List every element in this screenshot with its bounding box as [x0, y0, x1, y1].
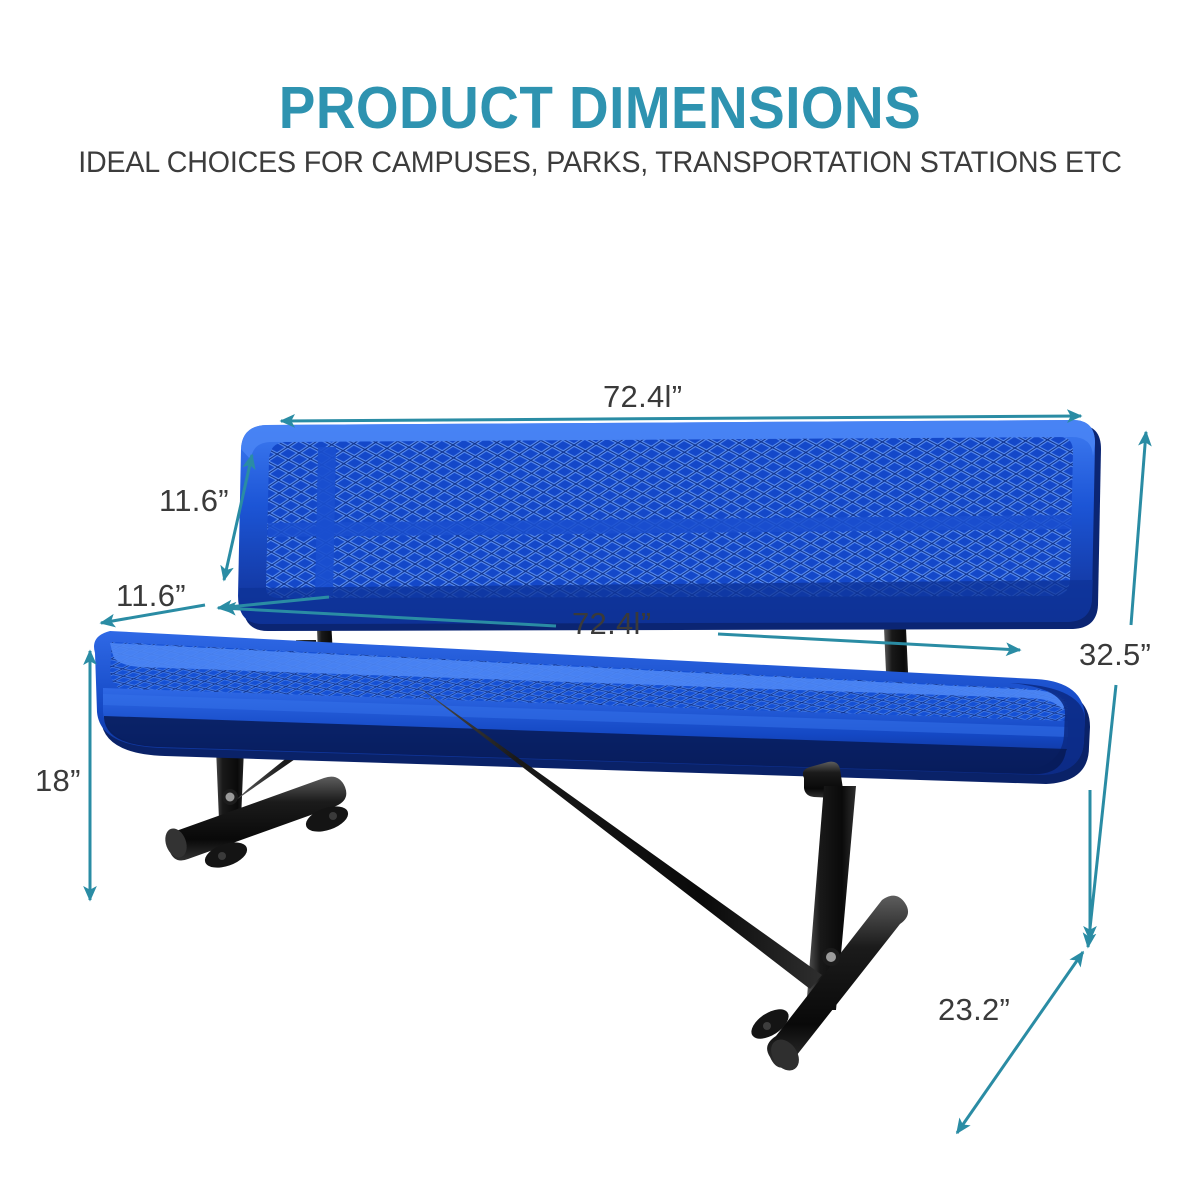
dim-label-overall-depth: 23.2” — [938, 992, 1010, 1028]
dim-label-backrest-height: 11.6” — [159, 483, 229, 519]
dim-line-overall-height-lower — [1088, 685, 1116, 947]
bench-graphic — [94, 420, 1101, 1076]
backrest-panel — [238, 420, 1101, 631]
dim-label-backrest-width: 72.4l” — [603, 379, 682, 415]
dim-line-overall-height-upper — [1131, 432, 1146, 625]
dim-line-backrest-width — [281, 416, 1081, 421]
dim-line-overall-depth — [957, 952, 1083, 1133]
dim-label-seat-height: 18” — [35, 763, 81, 799]
dim-label-overall-height: 32.5” — [1079, 637, 1151, 673]
product-dimensions-infographic: PRODUCT DIMENSIONS IDEAL CHOICES FOR CAM… — [0, 0, 1200, 1200]
dim-label-seat-depth: 11.6” — [116, 578, 186, 614]
dim-line-seat-width-right — [718, 634, 1020, 650]
dim-label-seat-width: 72.4l” — [572, 606, 651, 642]
